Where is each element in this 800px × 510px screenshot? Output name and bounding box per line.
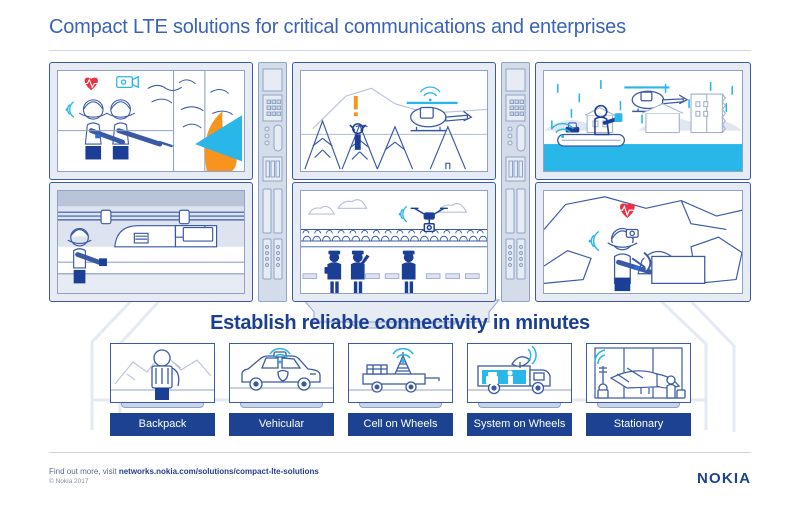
panel-flood-rescue-screen: [543, 70, 743, 172]
server-rack-left: [258, 62, 287, 302]
panel-flood-rescue[interactable]: [535, 62, 751, 180]
divider-bottom: [49, 452, 751, 453]
solution-card-stationary[interactable]: Stationary: [586, 343, 691, 403]
solution-label-cell-on-wheels[interactable]: Cell on Wheels: [348, 413, 453, 436]
police-car-icon: [229, 343, 334, 403]
footer-url[interactable]: networks.nokia.com/solutions/compact-lte…: [119, 467, 319, 476]
panel-firefighters-screen: [57, 70, 245, 172]
panel-public-safety[interactable]: [292, 182, 496, 302]
solution-card-backpack[interactable]: Backpack: [110, 343, 215, 403]
card-stand: [240, 403, 323, 408]
panel-search-rescue[interactable]: [292, 62, 496, 180]
backpack-icon: [110, 343, 215, 403]
panel-search-rescue-screen: [300, 70, 488, 172]
card-stand: [359, 403, 442, 408]
solution-card-vehicular[interactable]: Vehicular: [229, 343, 334, 403]
copyright: © Nokia 2017: [49, 478, 88, 485]
panel-mining[interactable]: [535, 182, 751, 302]
solution-label-backpack[interactable]: Backpack: [110, 413, 215, 436]
satellite-truck-icon: [467, 343, 572, 403]
trailer-mast-icon: [348, 343, 453, 403]
panel-public-safety-screen: [300, 190, 488, 294]
panel-firefighters[interactable]: [49, 62, 253, 180]
solution-label-system-on-wheels[interactable]: System on Wheels: [467, 413, 572, 436]
solution-cards: Backpack: [110, 343, 692, 436]
card-stand: [597, 403, 680, 408]
page-title: Compact LTE solutions for critical commu…: [49, 16, 626, 39]
divider-top: [49, 50, 751, 51]
card-stand: [121, 403, 204, 408]
card-stand: [478, 403, 561, 408]
solution-card-cell-on-wheels[interactable]: Cell on Wheels: [348, 343, 453, 403]
panel-rail-tunnel[interactable]: [49, 182, 253, 302]
solution-label-vehicular[interactable]: Vehicular: [229, 413, 334, 436]
nokia-logo: NOKIA: [697, 470, 751, 487]
server-rack-right: [501, 62, 530, 302]
section-heading: Establish reliable connectivity in minut…: [0, 312, 800, 335]
footer-prefix: Find out more, visit: [49, 467, 119, 476]
airport-terminal-icon: [586, 343, 691, 403]
infographic-page: Compact LTE solutions for critical commu…: [0, 0, 800, 510]
footer-cta: Find out more, visit networks.nokia.com/…: [49, 467, 319, 476]
panel-rail-tunnel-screen: [57, 190, 245, 294]
solution-card-system-on-wheels[interactable]: System on Wheels: [467, 343, 572, 403]
panel-mining-screen: [543, 190, 743, 294]
solution-label-stationary[interactable]: Stationary: [586, 413, 691, 436]
monitor-wall: [49, 62, 751, 302]
